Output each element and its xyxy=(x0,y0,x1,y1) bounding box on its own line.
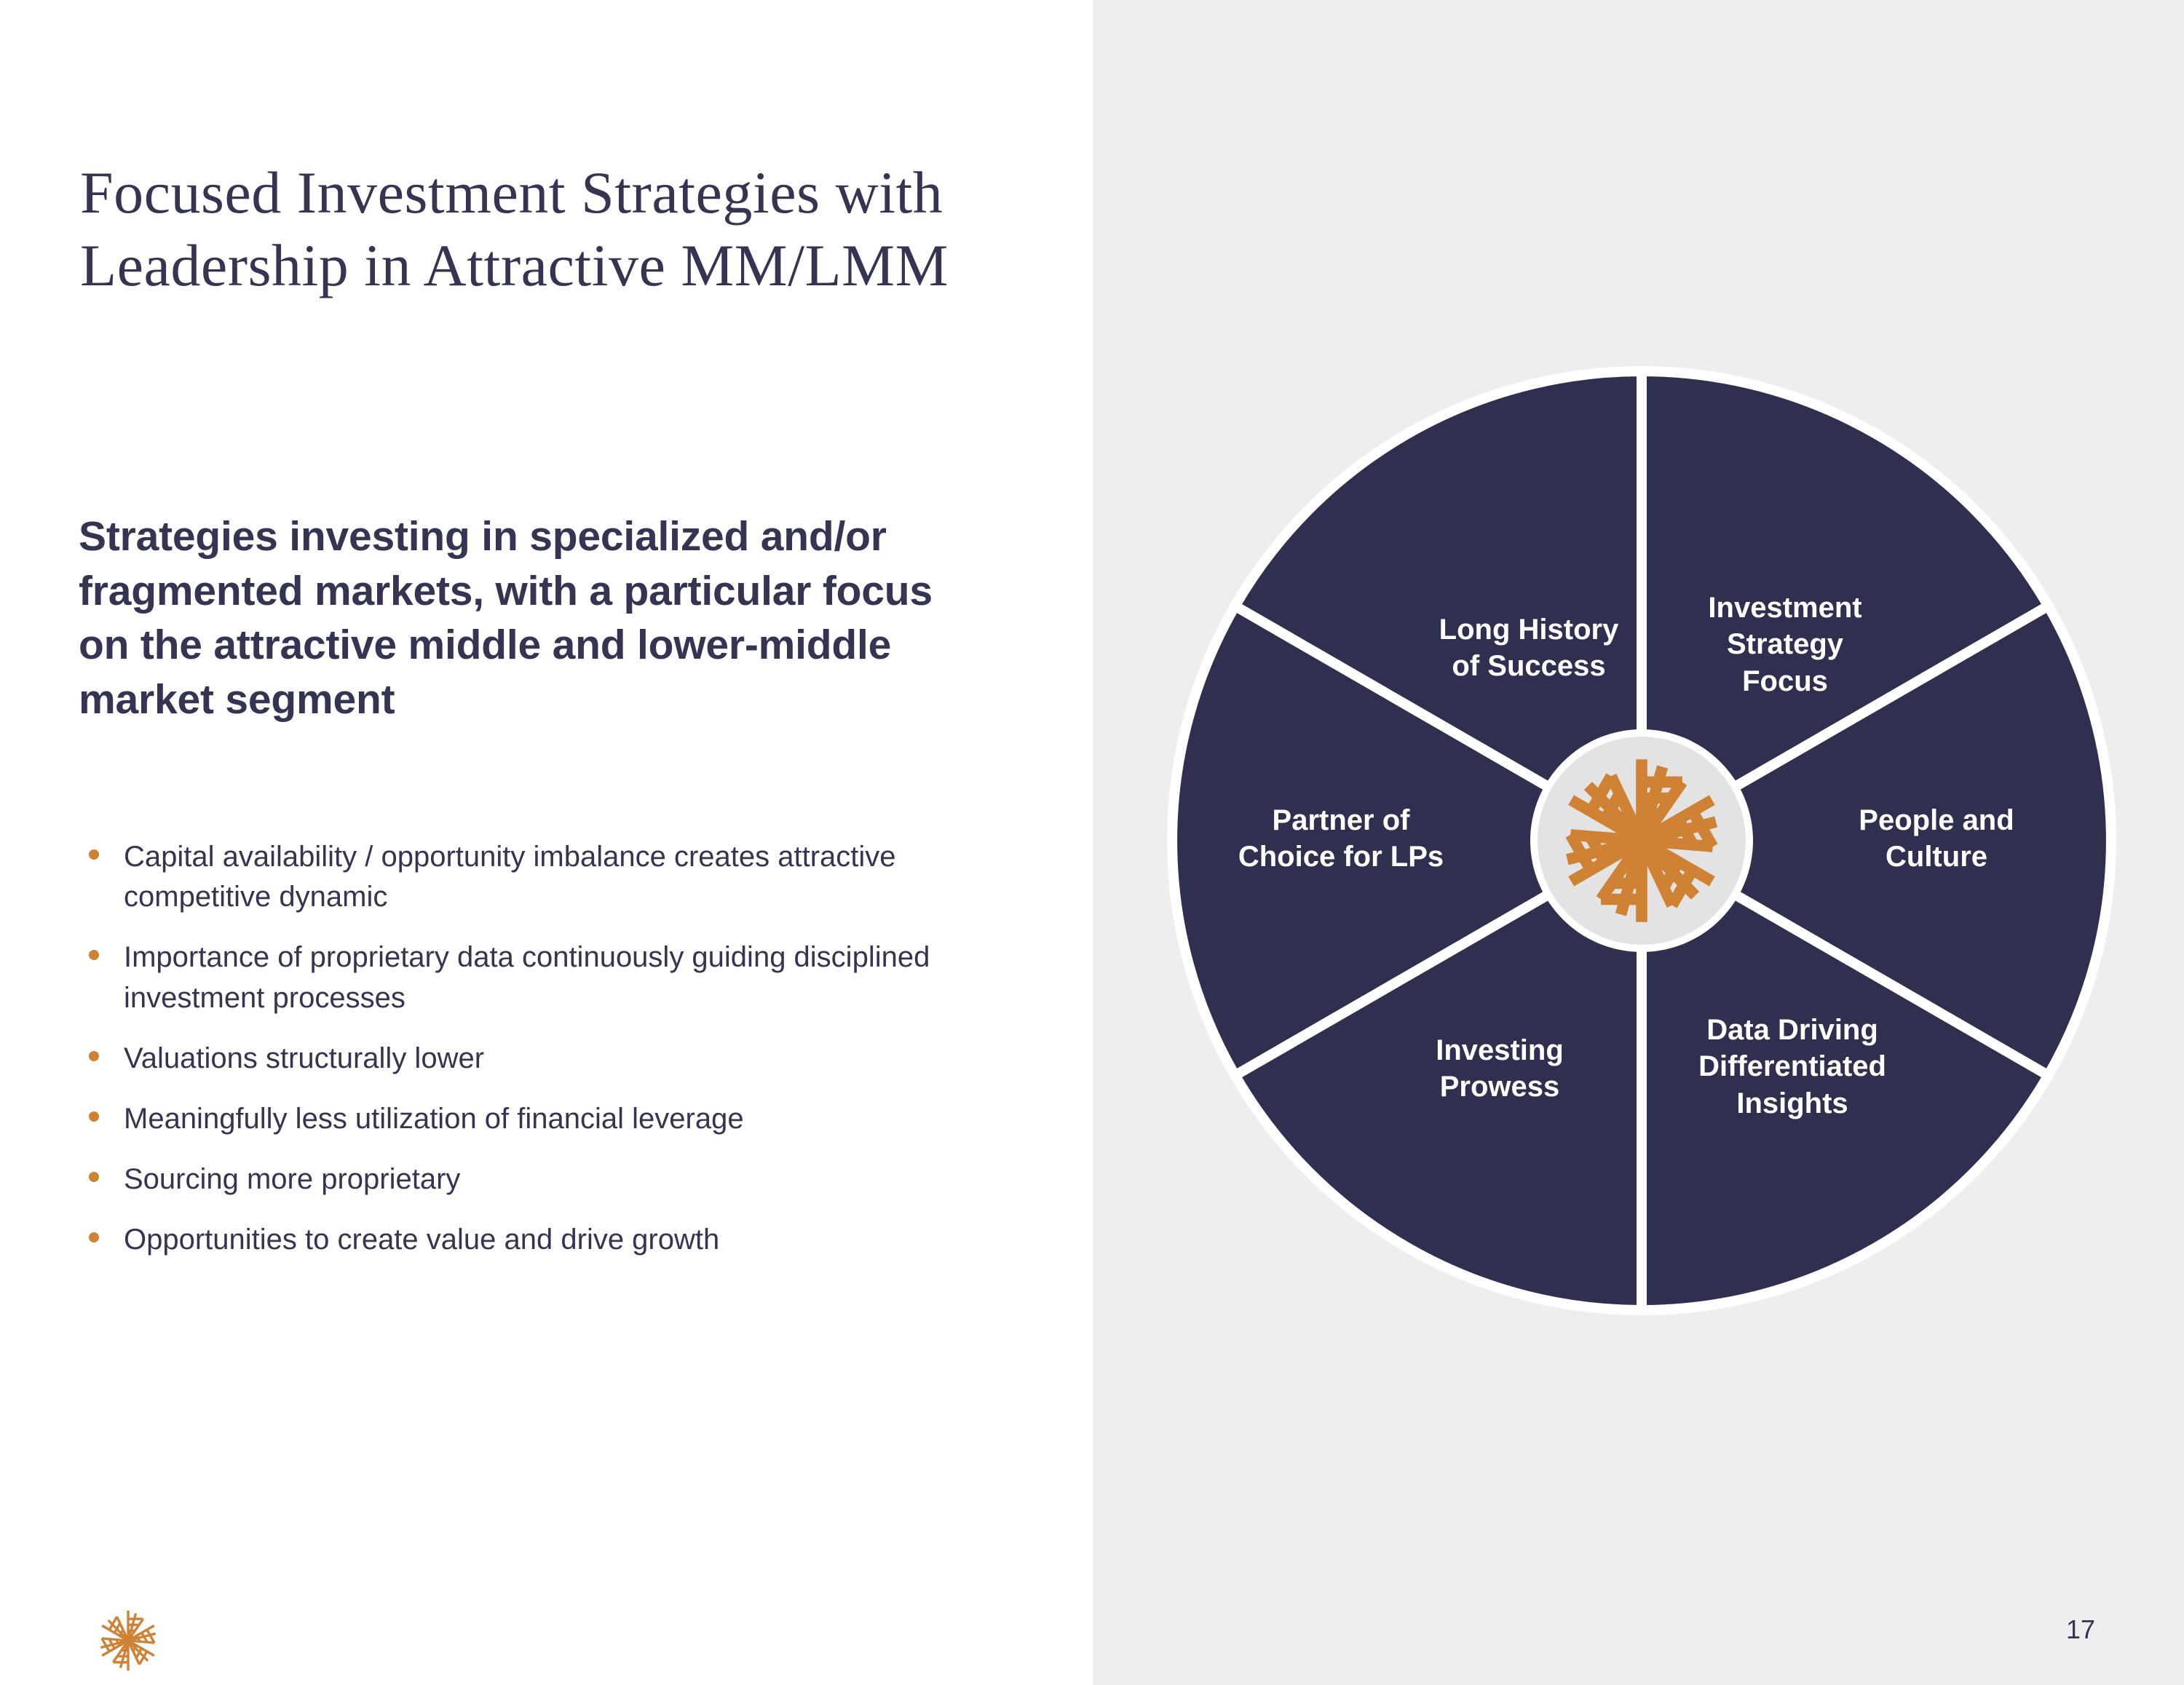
list-item-label: Sourcing more proprietary xyxy=(124,1163,460,1195)
bullet-dot-icon xyxy=(89,1172,99,1182)
slide-canvas: Focused Investment Strategies with Leade… xyxy=(0,0,2184,1685)
list-item: Capital availability / opportunity imbal… xyxy=(80,837,1026,917)
list-item: Opportunities to create value and drive … xyxy=(80,1220,1026,1260)
list-item-label: Meaningfully less utilization of financi… xyxy=(124,1103,744,1135)
six-segment-wheel-diagram: Long History of Success Investment Strat… xyxy=(1158,357,2126,1325)
bullet-dot-icon xyxy=(89,1111,99,1122)
bullet-list: Capital availability / opportunity imbal… xyxy=(80,837,1026,1281)
page-number: 17 xyxy=(2066,1614,2095,1645)
bullet-dot-icon xyxy=(89,1232,99,1242)
list-item-label: Valuations structurally lower xyxy=(124,1042,484,1074)
list-item-label: Importance of proprietary data continuou… xyxy=(124,941,930,1013)
list-item: Sourcing more proprietary xyxy=(80,1159,1026,1200)
bullet-dot-icon xyxy=(89,1051,99,1061)
list-item: Valuations structurally lower xyxy=(80,1039,1026,1079)
bullet-dot-icon xyxy=(89,950,99,960)
page-title: Focused Investment Strategies with Leade… xyxy=(80,156,1012,302)
list-item: Meaningfully less utilization of financi… xyxy=(80,1099,1026,1139)
list-item: Importance of proprietary data continuou… xyxy=(80,937,1026,1018)
subheading: Strategies investing in specialized and/… xyxy=(79,510,938,727)
list-item-label: Opportunities to create value and drive … xyxy=(124,1224,719,1256)
bullet-dot-icon xyxy=(89,849,99,860)
pinwheel-logo-icon xyxy=(93,1606,163,1676)
list-item-label: Capital availability / opportunity imbal… xyxy=(124,841,896,913)
